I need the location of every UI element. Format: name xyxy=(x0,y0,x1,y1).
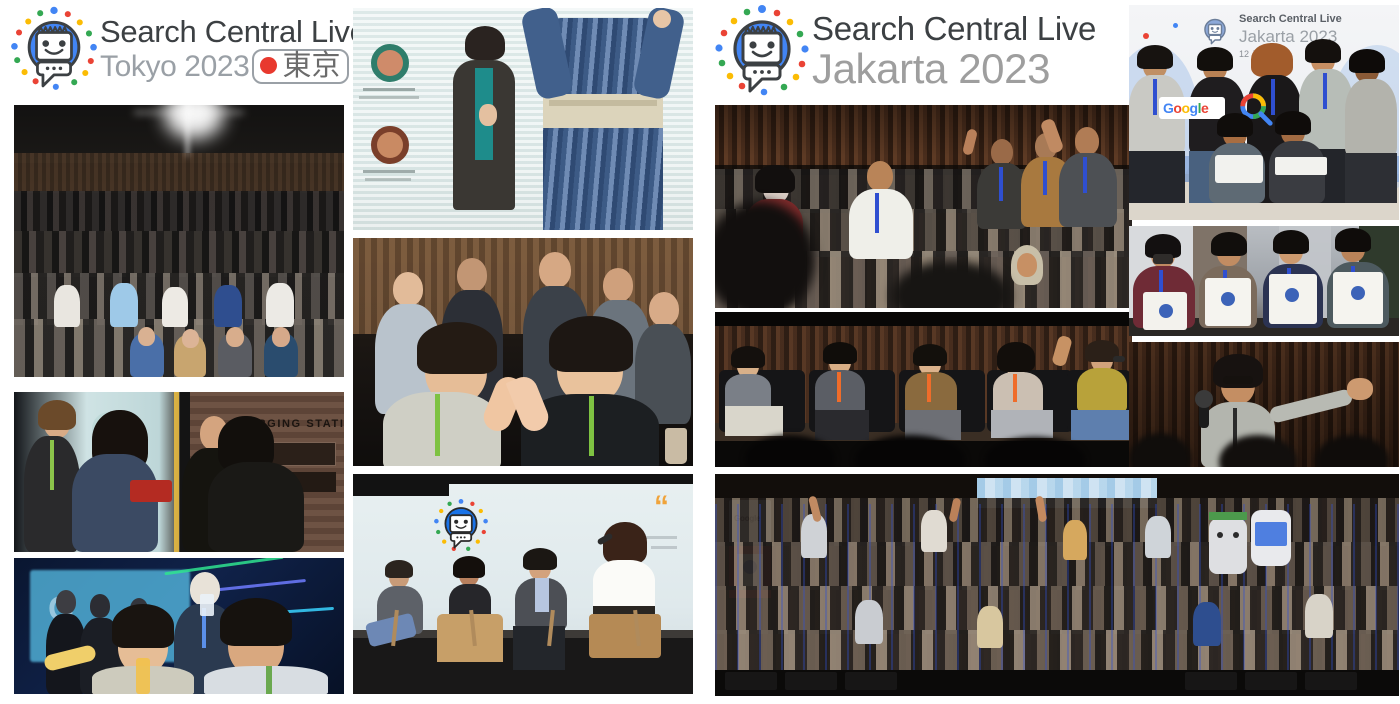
japan-flag-dot-icon xyxy=(260,57,277,74)
tokyo-logo-lockup: Search Central Live Tokyo 2023 東京 xyxy=(8,4,367,96)
photo-tokyo-yukata-stage xyxy=(353,8,693,230)
backdrop-quote-icon: “ xyxy=(654,490,669,524)
photo-jakarta-photo-wall: Search Central Live Jakarta 2023 12 July… xyxy=(1129,5,1399,220)
wall-title: Search Central Live xyxy=(1239,13,1342,25)
photo-jakarta-audience-cheer-image xyxy=(715,105,1132,308)
tokyo-logo-text: Search Central Live Tokyo 2023 東京 xyxy=(100,16,367,84)
backdrop-mascot-icon xyxy=(431,490,491,562)
photo-jakarta-group-photo: Google xyxy=(715,474,1399,696)
tokyo-kanji: 東京 xyxy=(282,51,340,80)
photo-jakarta-panel-stage-image xyxy=(715,312,1132,467)
photo-tokyo-audience-group-image xyxy=(14,105,344,377)
photo-tokyo-networking-drinks: G xyxy=(14,558,344,694)
search-central-mascot-icon xyxy=(712,2,812,102)
jakarta-subtitle: Jakarta 2023 xyxy=(812,47,1096,92)
jakarta-logo-text: Search Central Live Jakarta 2023 xyxy=(812,12,1096,91)
tokyo-city-chip: 東京 xyxy=(252,49,349,84)
photo-jakarta-group-photo-image: Google xyxy=(715,474,1399,696)
photo-jakarta-panel-stage xyxy=(715,312,1132,467)
tokyo-title: Search Central Live xyxy=(100,16,367,49)
photo-tokyo-yukata-stage-image xyxy=(353,8,693,230)
photo-jakarta-audience-cheer xyxy=(715,105,1132,308)
photo-tokyo-heart-hands-image xyxy=(353,238,693,466)
photo-tokyo-audience-group xyxy=(14,105,344,377)
photo-jakarta-photo-wall-image: Search Central Live Jakarta 2023 12 July… xyxy=(1129,5,1399,220)
google-prop-text: Google xyxy=(1163,100,1208,116)
photo-tokyo-charging-station: CHARGING STATION xyxy=(14,392,344,552)
tokyo-subtitle-row: Tokyo 2023 東京 xyxy=(100,49,367,84)
collage-canvas: Search Central Live Tokyo 2023 東京 xyxy=(0,0,1400,704)
photo-jakarta-swag-bags-image xyxy=(1129,226,1399,336)
photo-tokyo-panel-stage-image: “ xyxy=(353,474,693,694)
event-panel-jakarta: Search Central Live Jakarta 2023 xyxy=(712,0,1400,704)
photo-jakarta-audience-question xyxy=(1129,342,1399,467)
photo-tokyo-panel-stage: “ xyxy=(353,474,693,694)
photo-jakarta-audience-question-image xyxy=(1129,342,1399,467)
event-panel-tokyo: Search Central Live Tokyo 2023 東京 xyxy=(0,0,695,704)
tokyo-subtitle: Tokyo 2023 xyxy=(100,51,249,83)
photo-tokyo-charging-station-image: CHARGING STATION xyxy=(14,392,344,552)
jakarta-title: Search Central Live xyxy=(812,12,1096,47)
photo-tokyo-heart-hands xyxy=(353,238,693,466)
photo-jakarta-swag-bags xyxy=(1129,226,1399,336)
wall-mascot-icon xyxy=(1197,11,1233,51)
search-central-mascot-icon xyxy=(8,4,100,96)
jakarta-logo-lockup: Search Central Live Jakarta 2023 xyxy=(712,2,1096,102)
photo-tokyo-networking-drinks-image: G xyxy=(14,558,344,694)
